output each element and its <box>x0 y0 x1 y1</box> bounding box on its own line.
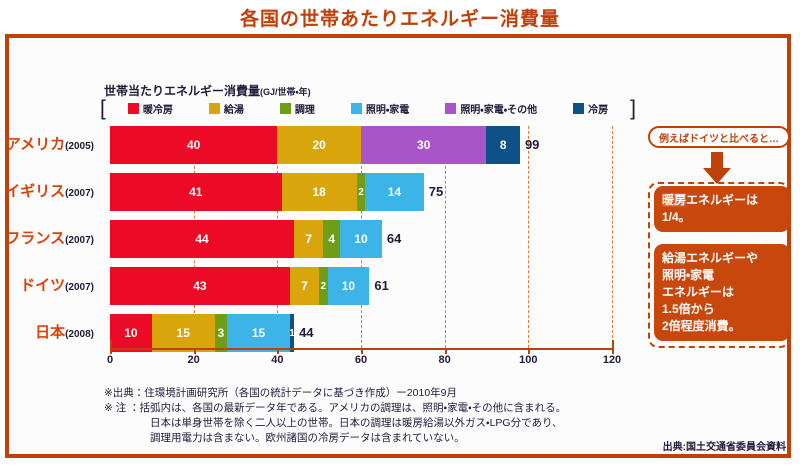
callout-message-2: 給湯エネルギーや照明・家電エネルギーは1.5倍から2倍程度消費。 <box>654 244 790 341</box>
legend: [ 暖冷房給湯調理照明・家電照明・家電・その他冷房 ] <box>100 98 636 118</box>
bar-segment-cooking: 3 <box>215 314 228 352</box>
legend-swatch-icon-lighting_appliances <box>351 103 362 114</box>
country-label-フランス: フランス(2007) <box>0 220 94 260</box>
legend-items: 暖冷房給湯調理照明・家電照明・家電・その他冷房 <box>106 101 630 116</box>
footnote-line-1: ※出典：住環境計画研究所（各国の統計データに基づき作成）ー2010年9月 <box>104 386 664 401</box>
bar-segment-lighting_appliances: 10 <box>340 220 382 258</box>
legend-swatch-icon-cooking <box>280 103 291 114</box>
bar-segment-heating_cooling: 44 <box>110 220 294 258</box>
country-name: 日本 <box>35 324 65 341</box>
bar-segment-hot_water: 7 <box>290 267 319 305</box>
legend-swatch-icon-heating_cooling <box>128 103 139 114</box>
callout-message-1-rest: エネルギーは <box>686 193 758 207</box>
bar-segment-heating_cooling: 10 <box>110 314 152 352</box>
legend-label-hot_water: 給湯 <box>224 101 244 116</box>
bar-segment-lighting_appliances_other: 30 <box>361 126 487 164</box>
page-title: 各国の世帯あたりエネルギー消費量 <box>0 4 800 31</box>
legend-item-hot_water: 給湯 <box>209 101 244 116</box>
legend-bracket-right: ] <box>630 98 636 119</box>
callout-message-1: 暖房エネルギーは 1/4。 <box>654 186 790 232</box>
country-label-アメリカ: アメリカ(2005) <box>0 126 94 166</box>
legend-item-lighting_appliances: 照明・家電 <box>351 101 409 116</box>
axis-cap <box>110 340 112 348</box>
legend-swatch-icon-lighting_appliances_other <box>445 103 456 114</box>
legend-item-lighting_appliances_other: 照明・家電・その他 <box>445 101 537 116</box>
axis-tick-label-120: 120 <box>603 354 621 366</box>
legend-item-cooking: 調理 <box>280 101 315 116</box>
callout-message-2-line-5: 2倍程度消費。 <box>662 318 782 335</box>
legend-unit: (GJ/世帯・年) <box>260 87 311 97</box>
legend-label-lighting_appliances_other: 照明・家電・その他 <box>460 101 537 116</box>
legend-label-lighting_appliances: 照明・家電 <box>366 101 409 116</box>
country-name: イギリス <box>5 183 65 200</box>
bar-total-label: 44 <box>294 314 313 352</box>
axis-cap <box>612 340 614 348</box>
country-year: (2008) <box>65 329 94 340</box>
country-label-イギリス: イギリス(2007) <box>0 173 94 213</box>
axis-tick-label-60: 60 <box>355 354 367 366</box>
bar-segment-hot_water: 15 <box>152 314 215 352</box>
country-year: (2005) <box>65 141 94 152</box>
country-year: (2007) <box>65 188 94 199</box>
callout-header: 例えばドイツと比べると… <box>648 126 790 148</box>
stacked-bar: 4118214 <box>110 173 424 211</box>
callout-message-2-line-2: 照明・家電 <box>662 267 782 284</box>
bar-segment-heating_cooling: 43 <box>110 267 290 305</box>
country-name: アメリカ <box>6 136 65 153</box>
footnote-line-4: 調理用電力は含まない。欧州諸国の冷房データは含まれていない。 <box>104 431 664 446</box>
callout-message-2-line-4: 1.5倍から <box>662 301 782 318</box>
bar-segment-heating_cooling: 41 <box>110 173 282 211</box>
callout-message-2-line-1: 給湯エネルギーや <box>662 250 782 267</box>
stacked-bar: 10153151 <box>110 314 294 352</box>
country-name: フランス <box>5 230 65 247</box>
bar-segment-hot_water: 7 <box>294 220 323 258</box>
axis-tick-label-40: 40 <box>271 354 283 366</box>
legend-heading: 世帯当たりエネルギー消費量(GJ/世帯・年) <box>104 82 311 99</box>
bar-total-label: 75 <box>424 173 443 211</box>
callout-message-2-line-3: エネルギーは <box>662 284 782 301</box>
bar-segment-cooling: 8 <box>486 126 519 164</box>
callout-highlight: 暖房 <box>662 193 686 207</box>
legend-item-cooling: 冷房 <box>573 101 608 116</box>
bar-segment-lighting_appliances: 10 <box>328 267 370 305</box>
country-label-日本: 日本(2008) <box>0 314 94 354</box>
legend-label-heating_cooling: 暖冷房 <box>143 101 173 116</box>
bar-segment-cooking: 4 <box>323 220 340 258</box>
country-year: (2007) <box>65 282 94 293</box>
bar-segment-hot_water: 18 <box>282 173 357 211</box>
legend-label-cooling: 冷房 <box>588 101 608 116</box>
legend-label-cooking: 調理 <box>295 101 315 116</box>
stacked-bar: 447410 <box>110 220 382 258</box>
legend-item-heating_cooling: 暖冷房 <box>128 101 173 116</box>
footnote-line-3: 日本は単身世帯を除く二人以上の世帯。日本の調理は暖房給湯以外ガス・LPG分であり… <box>104 416 664 431</box>
callout-message-1-line2: 1/4。 <box>662 210 691 224</box>
legend-swatch-icon-cooling <box>573 103 584 114</box>
bar-segment-heating_cooling: 40 <box>110 126 277 164</box>
footnote-line-2: ※ 注 ：括弧内は、各国の最新データ年である。アメリカの調理は、照明・家電・その… <box>104 401 664 416</box>
bar-total-label: 99 <box>520 126 539 164</box>
stacked-bar: 4020308 <box>110 126 520 164</box>
bar-segment-cooking: 2 <box>357 173 365 211</box>
axis-tick-label-80: 80 <box>439 354 451 366</box>
country-name: ドイツ <box>20 277 65 294</box>
axis-tick-label-20: 20 <box>188 354 200 366</box>
axis-tick-label-0: 0 <box>107 354 113 366</box>
country-label-ドイツ: ドイツ(2007) <box>0 267 94 307</box>
bar-total-label: 64 <box>382 220 401 258</box>
legend-swatch-icon-hot_water <box>209 103 220 114</box>
legend-heading-text: 世帯当たりエネルギー消費量 <box>104 84 260 98</box>
footnotes: ※出典：住環境計画研究所（各国の統計データに基づき作成）ー2010年9月※ 注 … <box>104 386 664 446</box>
bar-total-label: 61 <box>369 267 388 305</box>
bar-segment-hot_water: 20 <box>277 126 361 164</box>
bar-segment-cooking: 2 <box>319 267 327 305</box>
stacked-bar: 437210 <box>110 267 369 305</box>
bar-segment-lighting_appliances: 14 <box>365 173 424 211</box>
bar-segment-lighting_appliances: 15 <box>227 314 290 352</box>
country-year: (2007) <box>65 235 94 246</box>
axis-tick-label-100: 100 <box>519 354 537 366</box>
chart-page: 各国の世帯あたりエネルギー消費量 世帯当たりエネルギー消費量(GJ/世帯・年) … <box>0 0 800 472</box>
source-credit: 出典:国土交通省委員会資料 <box>663 438 786 453</box>
